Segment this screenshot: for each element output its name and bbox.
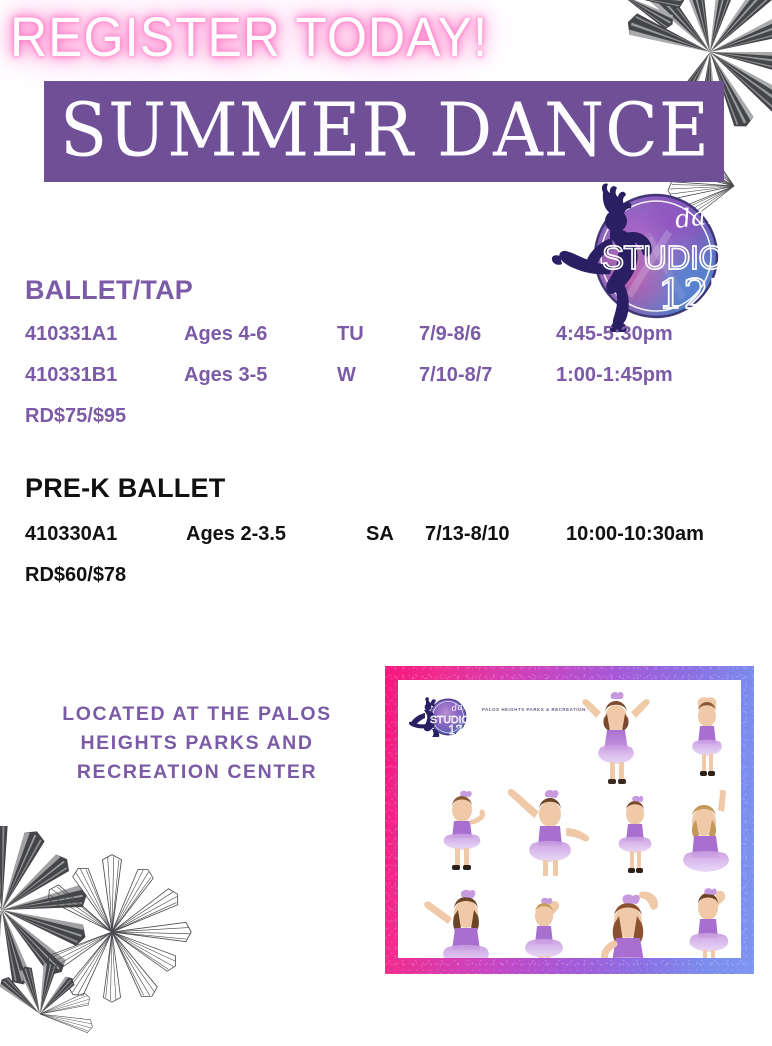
class-day: W [337,364,356,387]
class-dates: 7/13-8/10 [425,523,510,546]
location-block: LOCATED AT THE PALOS HEIGHTS PARKS AND R… [12,700,382,787]
class-time: 1:00-1:45pm [556,364,673,387]
location-line-3: RECREATION CENTER [12,758,382,787]
palm-frond-decoration-bottom-left [0,826,214,1046]
collage-studio-logo-icon: dance STUDIO 127 [408,696,472,738]
svg-text:127: 127 [448,723,471,737]
dancer-photo-5 [610,796,660,884]
class-code: 410331B1 [25,364,117,387]
price-pre-k-ballet: RD$60/$78 [25,564,772,587]
dancer-photo-10 [682,886,736,958]
class-row-410330A1: 410330A1 Ages 2-3.5 SA 7/13-8/10 10:00-1… [0,523,772,564]
logo-studio-word: STUDIO [602,239,724,276]
class-ages: Ages 2-3.5 [186,523,286,546]
class-day: SA [366,523,394,546]
class-ages: Ages 4-6 [184,323,267,346]
class-dates: 7/10-8/7 [419,364,492,387]
class-time: 4:45-5:30pm [556,323,673,346]
dancer-photo-8 [518,894,574,958]
section-ballet-tap: BALLET/TAP 410331A1 Ages 4-6 TU 7/9-8/6 … [0,275,772,428]
class-code: 410330A1 [25,523,117,546]
dancer-photo-3 [434,790,496,880]
dancer-photo-collage: dance STUDIO 127 PALOS HEIGHTS PARKS & R… [385,666,754,974]
summer-dance-title: SUMMER DANCE [60,93,710,167]
register-today-headline: REGISTER TODAY! [10,6,488,68]
location-line-1: LOCATED AT THE PALOS [12,700,382,729]
class-code: 410331A1 [25,323,117,346]
class-row-410331A1: 410331A1 Ages 4-6 TU 7/9-8/6 4:45-5:30pm [0,323,772,364]
section-heading-pre-k-ballet: PRE-K BALLET [25,473,772,504]
section-heading-ballet-tap: BALLET/TAP [25,275,772,306]
summer-dance-banner: SUMMER DANCE [44,81,724,182]
section-pre-k-ballet: PRE-K BALLET 410330A1 Ages 2-3.5 SA 7/13… [0,473,772,587]
location-line-2: HEIGHTS PARKS AND [12,729,382,758]
dancer-photo-11 [682,732,732,792]
class-row-410331B1: 410331B1 Ages 3-5 W 7/10-8/7 1:00-1:45pm [0,364,772,405]
dancer-photo-4 [504,784,596,880]
class-day: TU [337,323,364,346]
dancer-photo-1 [574,688,658,788]
collage-caption: PALOS HEIGHTS PARKS & RECREATION [482,707,586,712]
collage-inner-panel: dance STUDIO 127 PALOS HEIGHTS PARKS & R… [398,680,741,958]
class-time: 10:00-10:30am [566,523,704,546]
class-dates: 7/9-8/6 [419,323,481,346]
price-ballet-tap: RD$75/$95 [25,405,772,428]
dancer-photo-6 [674,790,738,884]
class-ages: Ages 3-5 [184,364,267,387]
dancer-photo-7 [422,888,506,958]
dancer-photo-9 [586,888,672,958]
